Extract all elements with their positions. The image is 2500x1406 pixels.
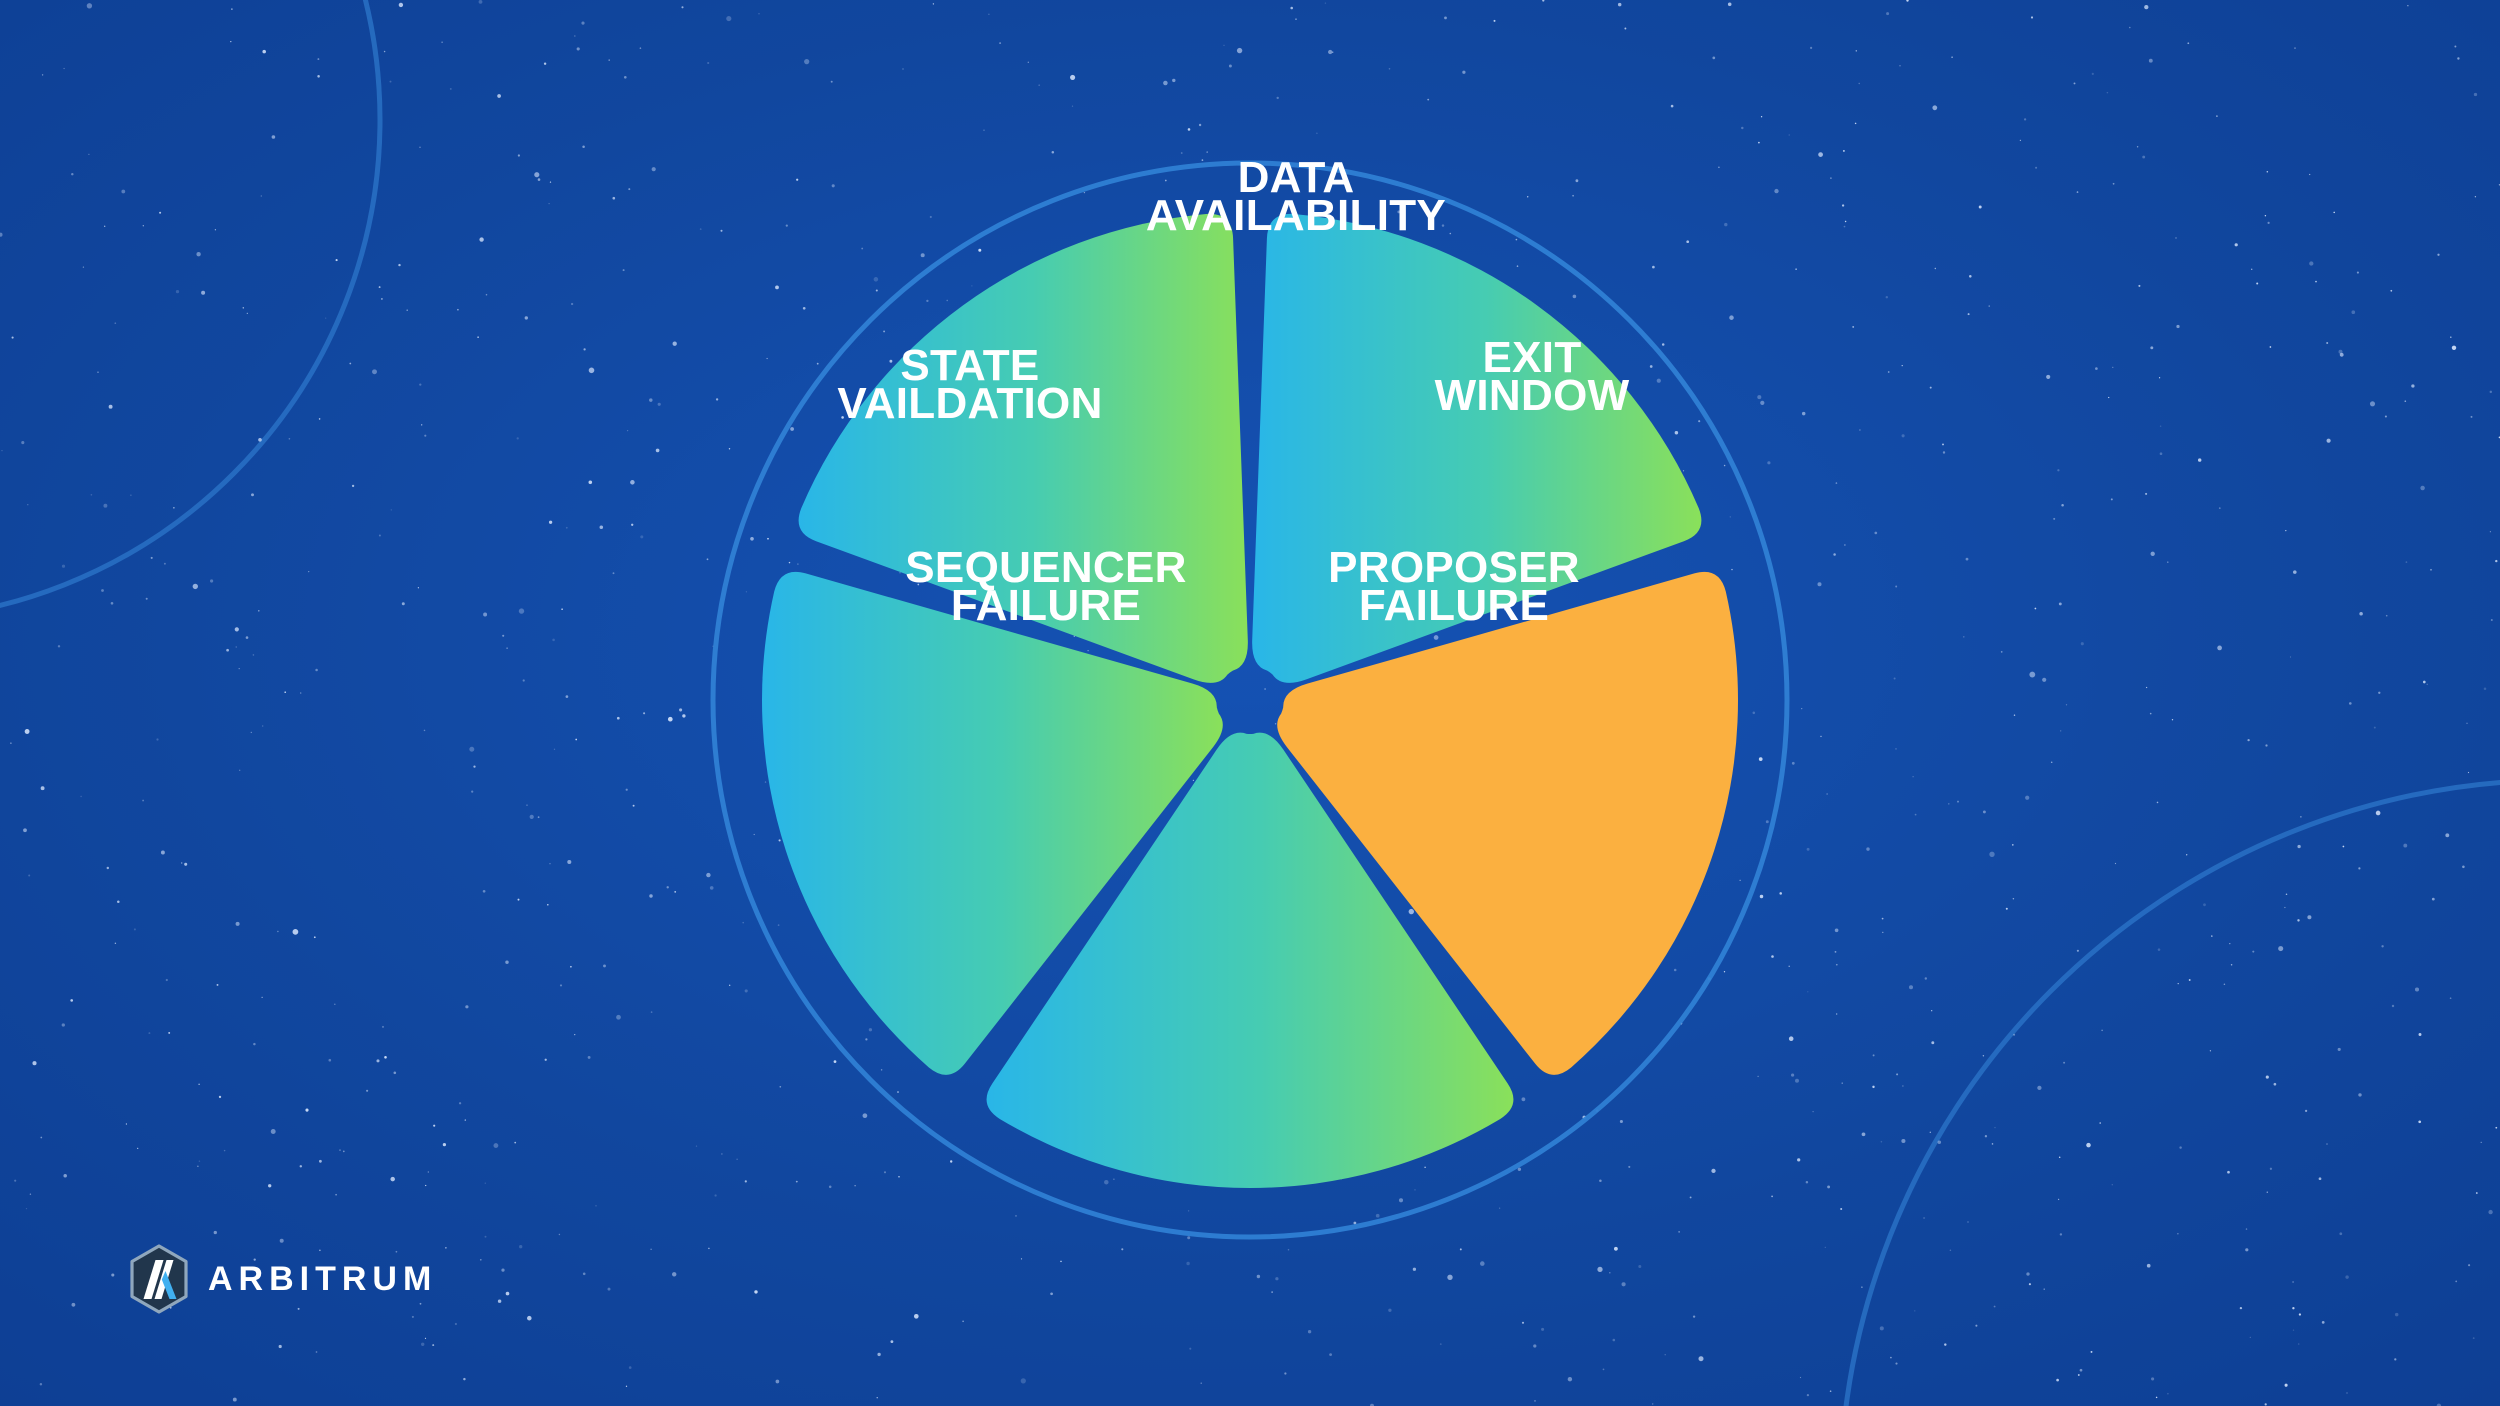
poster-canvas: DATAAVAILABILITYEXITWINDOWPROPOSERFAILUR… xyxy=(0,0,2500,1406)
background-fill xyxy=(0,0,2500,1406)
arbitrum-wordmark: ARBITRUM xyxy=(208,1262,437,1296)
arbitrum-logo[interactable]: ARBITRUM xyxy=(128,1244,437,1314)
background-layer xyxy=(0,0,2500,1406)
arbitrum-hexagon-logo-icon xyxy=(128,1244,190,1314)
